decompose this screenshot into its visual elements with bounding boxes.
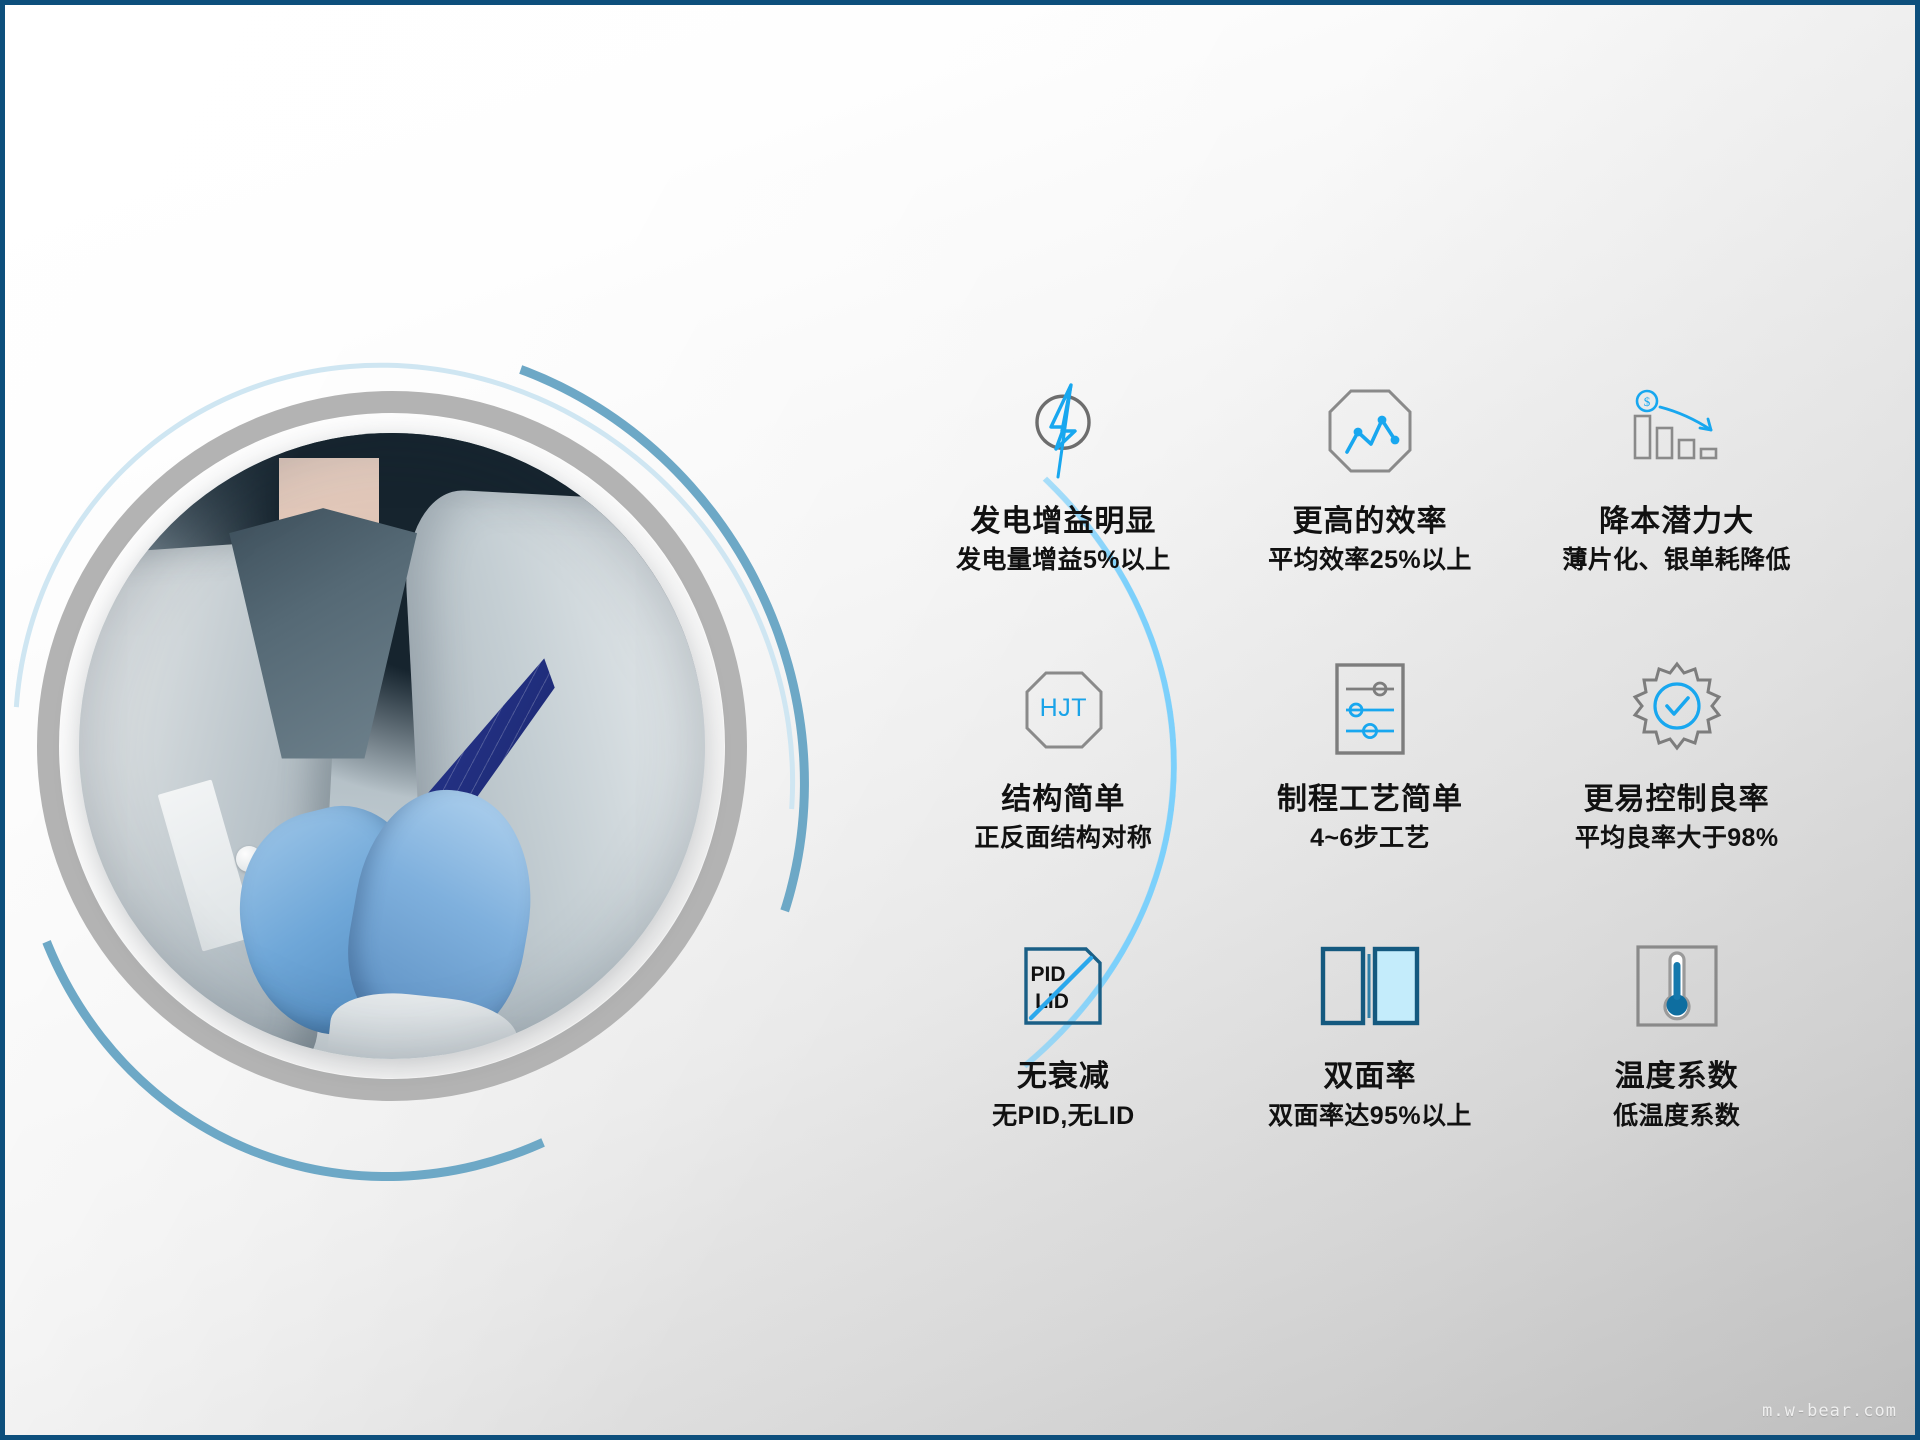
feature-title: 降本潜力大 [1599,505,1754,539]
pid-label: PID [1031,963,1066,986]
lightning-bolt-circle-icon [1015,375,1111,487]
watermark: m.w-bear.com [1762,1401,1897,1421]
feature-subtitle: 平均效率25%以上 [1268,546,1472,575]
feature-item[interactable]: 发电增益明显 发电量增益5%以上 [910,375,1217,575]
feature-item[interactable]: 双面率 双面率达95%以上 [1217,930,1524,1130]
feature-item[interactable]: 更高的效率 平均效率25%以上 [1217,375,1524,575]
feature-subtitle: 发电量增益5%以上 [956,546,1171,575]
no-pid-lid-icon: PID LID [1022,930,1104,1042]
feature-subtitle: 双面率达95%以上 [1268,1102,1472,1131]
feature-subtitle: 正反面结构对称 [974,824,1152,853]
feature-item[interactable]: 更易控制良率 平均良率大于98% [1523,653,1830,853]
feature-item[interactable]: PID LID 无衰减 无PID,无LID [910,930,1217,1130]
feature-title: 结构简单 [1001,783,1125,817]
feature-title: 温度系数 [1615,1060,1739,1094]
svg-text:$: $ [1643,394,1650,409]
thermometer-icon [1634,930,1720,1042]
bifacial-panels-icon [1320,930,1420,1042]
feature-title: 发电增益明显 [970,505,1156,539]
feature-item[interactable]: 温度系数 低温度系数 [1523,930,1830,1130]
hjt-octagon-icon: HJT [1024,653,1102,765]
feature-item[interactable]: 制程工艺简单 4~6步工艺 [1217,653,1524,853]
cost-down-bars-icon: $ [1625,375,1729,487]
feature-item[interactable]: HJT 结构简单 正反面结构对称 [910,653,1217,853]
feature-subtitle: 无PID,无LID [992,1102,1135,1131]
feature-subtitle: 4~6步工艺 [1310,824,1430,853]
quality-badge-check-icon [1629,653,1725,765]
feature-title: 制程工艺简单 [1277,783,1463,817]
feature-subtitle: 平均良率大于98% [1575,824,1779,853]
feature-title: 无衰减 [1017,1060,1110,1094]
feature-subtitle: 低温度系数 [1613,1102,1740,1131]
slide-canvas: 发电增益明显 发电量增益5%以上 更高的效率 平均效率25%以上 [0,0,1920,1440]
feature-title: 更易控制良率 [1584,783,1770,817]
feature-item[interactable]: $ 降本潜力大 薄片化、银单耗降低 [1523,375,1830,575]
sliders-panel-icon [1332,653,1408,765]
feature-title: 双面率 [1323,1060,1416,1094]
line-chart-octagon-icon [1327,375,1413,487]
feature-subtitle: 薄片化、银单耗降低 [1562,546,1791,575]
feature-title: 更高的效率 [1292,505,1447,539]
feature-grid: 发电增益明显 发电量增益5%以上 更高的效率 平均效率25%以上 [910,375,1830,1130]
